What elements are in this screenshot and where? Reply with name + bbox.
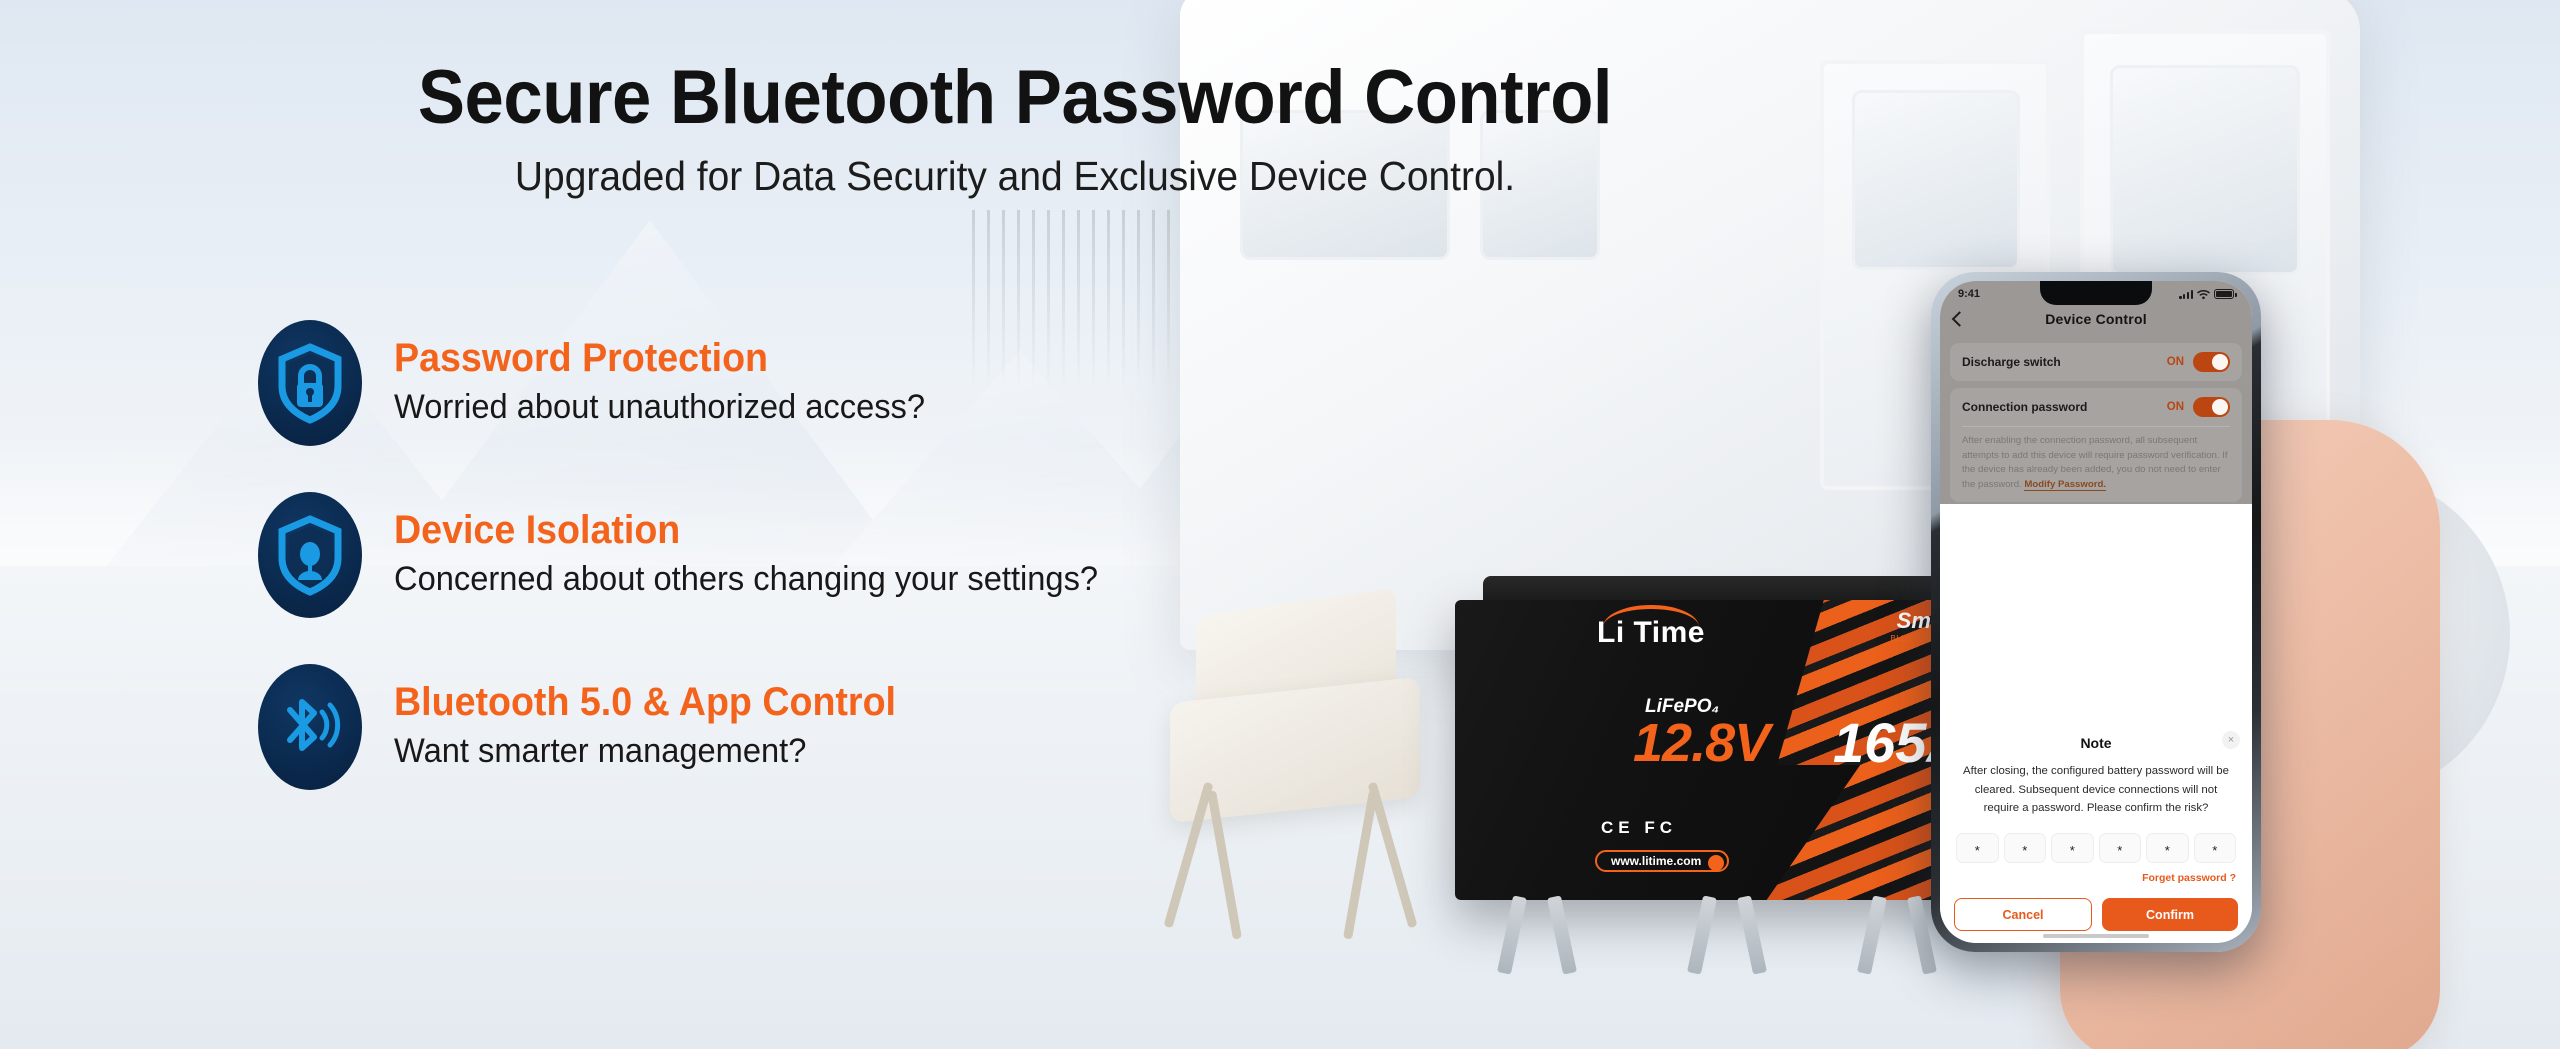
feature-text: Bluetooth 5.0 & App Control Want smarter… [394, 680, 928, 775]
back-chevron-icon[interactable] [1952, 311, 1968, 327]
smartphone: 9:41 Device Control [1931, 272, 2261, 952]
camp-chair [1150, 660, 1450, 960]
discharge-switch-card: Discharge switch ON [1950, 343, 2242, 381]
bluetooth-signal-icon [258, 664, 362, 790]
cellular-signal-icon [2179, 290, 2193, 299]
certification-marks: CE FC [1601, 818, 1677, 838]
battery-status-icon [2214, 289, 2234, 299]
nav-title: Device Control [2045, 311, 2147, 327]
feature-desc: Want smarter management? [394, 732, 907, 771]
voltage-label: 12.8V [1633, 712, 1769, 774]
brand-logo: Li Time [1597, 616, 1705, 650]
cancel-button[interactable]: Cancel [1954, 898, 2092, 931]
pin-box[interactable]: * [2099, 833, 2142, 863]
connection-password-toggle[interactable] [2193, 397, 2230, 417]
page-subtitle: Upgraded for Data Security and Exclusive… [51, 153, 1980, 200]
website-url: www.litime.com [1595, 850, 1729, 872]
phone-notch [2040, 281, 2152, 305]
phone-frame: 9:41 Device Control [1931, 272, 2261, 952]
connection-password-card: Connection password ON After enabling th… [1950, 388, 2242, 502]
pin-box[interactable]: * [2146, 833, 2189, 863]
feature-title: Device Isolation [394, 508, 1083, 552]
note-modal: × Note After closing, the configured bat… [1940, 719, 2252, 943]
modal-title: Note [1954, 735, 2238, 751]
pin-box[interactable]: * [1956, 833, 1999, 863]
shield-lock-icon [258, 320, 362, 446]
nav-bar: Device Control [1940, 302, 2252, 336]
row-discharge-switch[interactable]: Discharge switch ON [1962, 343, 2230, 381]
feature-item-bluetooth-app-control: Bluetooth 5.0 & App Control Want smarter… [258, 664, 1127, 790]
modify-password-link[interactable]: Modify Password. [2024, 479, 2106, 491]
feature-item-password-protection: Password Protection Worried about unauth… [258, 320, 1127, 446]
password-input-row[interactable]: * * * * * * [1956, 833, 2236, 863]
feature-title: Bluetooth 5.0 & App Control [394, 680, 896, 724]
row-connection-password[interactable]: Connection password ON [1962, 388, 2230, 426]
feature-item-device-isolation: Device Isolation Concerned about others … [258, 492, 1127, 618]
home-indicator [2043, 934, 2149, 938]
modal-body-text: After closing, the configured battery pa… [1954, 762, 2238, 817]
pin-box[interactable]: * [2194, 833, 2237, 863]
forget-password-link[interactable]: Forget password ? [1956, 872, 2236, 884]
feature-text: Device Isolation Concerned about others … [394, 508, 1127, 603]
feature-desc: Concerned about others changing your set… [394, 560, 1098, 599]
pin-box[interactable]: * [2004, 833, 2047, 863]
phone-screen[interactable]: 9:41 Device Control [1940, 281, 2252, 943]
feature-desc: Worried about unauthorized access? [394, 388, 925, 427]
row-label: Connection password [1962, 400, 2087, 414]
pin-box[interactable]: * [2051, 833, 2094, 863]
confirm-button[interactable]: Confirm [2102, 898, 2238, 931]
headings-block: Secure Bluetooth Password Control Upgrad… [0, 58, 2030, 200]
discharge-switch-toggle[interactable] [2193, 352, 2230, 372]
shield-person-icon [258, 492, 362, 618]
feature-text: Password Protection Worried about unauth… [394, 336, 947, 431]
row-label: Discharge switch [1962, 355, 2061, 369]
feature-title: Password Protection [394, 336, 914, 380]
feature-list: Password Protection Worried about unauth… [258, 320, 1127, 790]
connection-password-hint: After enabling the connection password, … [1962, 426, 2230, 502]
wifi-icon [2197, 289, 2210, 300]
app-background-layer: 9:41 Device Control [1940, 281, 2252, 504]
status-time: 9:41 [1958, 288, 1980, 300]
row-state-text: ON [2167, 356, 2184, 368]
page-title: Secure Bluetooth Password Control [71, 58, 1959, 137]
row-state-text: ON [2167, 401, 2184, 413]
